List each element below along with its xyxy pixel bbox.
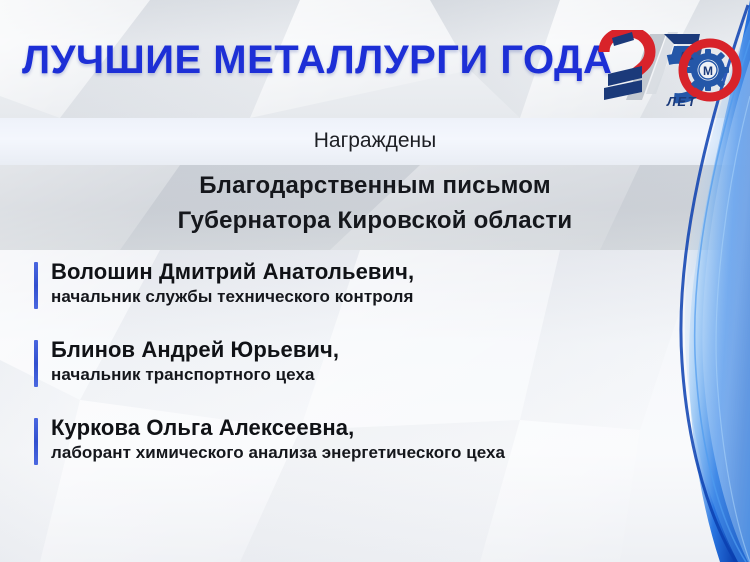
award-title-line-1: Благодарственным письмом: [0, 168, 750, 203]
page-title: ЛУЧШИЕ МЕТАЛЛУРГИ ГОДА: [22, 38, 612, 83]
logo-years-label: ЛЕТ: [666, 94, 697, 108]
honoree-list: Волошин Дмитрий Анатольевич, начальник с…: [34, 258, 724, 492]
honoree-name: Куркова Ольга Алексеевна,: [51, 414, 724, 441]
list-item: Куркова Ольга Алексеевна, лаборант химич…: [34, 414, 724, 464]
list-item: Блинов Андрей Юрьевич, начальник транспо…: [34, 336, 724, 386]
award-title: Благодарственным письмом Губернатора Кир…: [0, 168, 750, 238]
award-title-line-2: Губернатора Кировской области: [0, 203, 750, 238]
honoree-name: Блинов Андрей Юрьевич,: [51, 336, 724, 363]
accent-bar-icon: [34, 418, 38, 465]
honoree-name: Волошин Дмитрий Анатольевич,: [51, 258, 724, 285]
slide-root: ЛУЧШИЕ МЕТАЛЛУРГИ ГОДА: [0, 0, 750, 562]
header: ЛУЧШИЕ МЕТАЛЛУРГИ ГОДА: [0, 0, 750, 118]
awarded-caption: Награждены: [0, 129, 750, 153]
honoree-role: лаборант химического анализа энергетичес…: [51, 441, 724, 464]
logo-gear-icon: М: [687, 49, 729, 91]
list-item: Волошин Дмитрий Анатольевич, начальник с…: [34, 258, 724, 308]
logo-gear-letter: М: [703, 64, 713, 78]
honoree-role: начальник транспортного цеха: [51, 363, 724, 386]
honoree-role: начальник службы технического контроля: [51, 285, 724, 308]
accent-bar-icon: [34, 262, 38, 309]
anniversary-250-logo: М ЛЕТ: [598, 30, 744, 108]
accent-bar-icon: [34, 340, 38, 387]
